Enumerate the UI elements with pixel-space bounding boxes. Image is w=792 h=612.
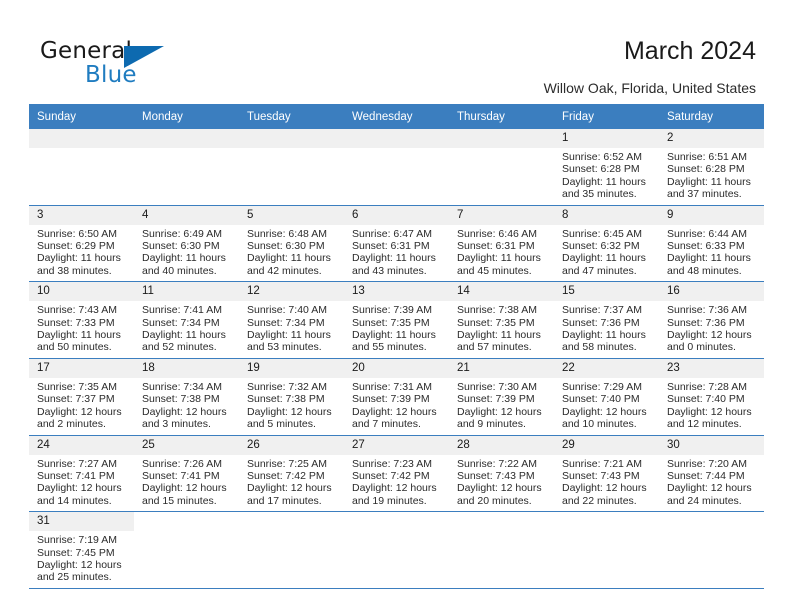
calendar-day-cell[interactable]: 28Sunrise: 7:22 AMSunset: 7:43 PMDayligh… (449, 435, 554, 512)
day-number: 7 (449, 206, 554, 225)
calendar-day-cell[interactable]: 6Sunrise: 6:47 AMSunset: 6:31 PMDaylight… (344, 205, 449, 282)
day-sun-info: Sunrise: 6:46 AMSunset: 6:31 PMDaylight:… (449, 225, 554, 282)
daylight-text-line2: and 47 minutes. (562, 265, 655, 277)
sunrise-text: Sunrise: 7:37 AM (562, 304, 655, 316)
sunset-text: Sunset: 6:28 PM (667, 163, 760, 175)
daylight-text-line1: Daylight: 11 hours (667, 252, 760, 264)
sunset-text: Sunset: 6:28 PM (562, 163, 655, 175)
calendar-day-cell[interactable]: 17Sunrise: 7:35 AMSunset: 7:37 PMDayligh… (29, 358, 134, 435)
weekday-header-row: Sunday Monday Tuesday Wednesday Thursday… (29, 104, 764, 129)
daylight-text-line1: Daylight: 12 hours (37, 406, 130, 418)
calendar-day-cell[interactable]: 7Sunrise: 6:46 AMSunset: 6:31 PMDaylight… (449, 205, 554, 282)
sunrise-text: Sunrise: 7:28 AM (667, 381, 760, 393)
calendar-cell-empty (29, 129, 134, 205)
daylight-text-line1: Daylight: 11 hours (247, 252, 340, 264)
daylight-text-line1: Daylight: 12 hours (667, 406, 760, 418)
calendar-week-row: 1Sunrise: 6:52 AMSunset: 6:28 PMDaylight… (29, 129, 764, 205)
day-number: 14 (449, 282, 554, 301)
day-sun-info: Sunrise: 7:23 AMSunset: 7:42 PMDaylight:… (344, 455, 449, 512)
day-sun-info: Sunrise: 6:45 AMSunset: 6:32 PMDaylight:… (554, 225, 659, 282)
day-sun-info: Sunrise: 6:47 AMSunset: 6:31 PMDaylight:… (344, 225, 449, 282)
day-number: 8 (554, 206, 659, 225)
sunrise-text: Sunrise: 7:41 AM (142, 304, 235, 316)
sunset-text: Sunset: 7:34 PM (247, 317, 340, 329)
sunrise-text: Sunrise: 6:51 AM (667, 151, 760, 163)
calendar-cell-empty (344, 129, 449, 205)
sunset-text: Sunset: 7:36 PM (667, 317, 760, 329)
calendar-day-cell[interactable]: 22Sunrise: 7:29 AMSunset: 7:40 PMDayligh… (554, 358, 659, 435)
day-number: 19 (239, 359, 344, 378)
sunrise-text: Sunrise: 7:31 AM (352, 381, 445, 393)
day-number: 17 (29, 359, 134, 378)
day-sun-info: Sunrise: 6:48 AMSunset: 6:30 PMDaylight:… (239, 225, 344, 282)
calendar-day-cell[interactable]: 3Sunrise: 6:50 AMSunset: 6:29 PMDaylight… (29, 205, 134, 282)
day-number: 27 (344, 436, 449, 455)
calendar-day-cell[interactable]: 20Sunrise: 7:31 AMSunset: 7:39 PMDayligh… (344, 358, 449, 435)
daylight-text-line2: and 12 minutes. (667, 418, 760, 430)
daylight-text-line1: Daylight: 12 hours (667, 482, 760, 494)
day-sun-info: Sunrise: 7:27 AMSunset: 7:41 PMDaylight:… (29, 455, 134, 512)
brand-logo[interactable]: General Blue (40, 38, 170, 90)
sunset-text: Sunset: 7:36 PM (562, 317, 655, 329)
sunrise-text: Sunrise: 6:46 AM (457, 228, 550, 240)
sunset-text: Sunset: 7:35 PM (352, 317, 445, 329)
sunrise-text: Sunrise: 6:49 AM (142, 228, 235, 240)
sunset-text: Sunset: 6:33 PM (667, 240, 760, 252)
daylight-text-line2: and 38 minutes. (37, 265, 130, 277)
daylight-text-line1: Daylight: 12 hours (37, 559, 130, 571)
daylight-text-line2: and 5 minutes. (247, 418, 340, 430)
sunrise-text: Sunrise: 7:26 AM (142, 458, 235, 470)
day-number (344, 129, 449, 148)
day-number: 26 (239, 436, 344, 455)
daylight-text-line2: and 9 minutes. (457, 418, 550, 430)
daylight-text-line1: Daylight: 12 hours (37, 482, 130, 494)
sunrise-text: Sunrise: 7:34 AM (142, 381, 235, 393)
day-number: 20 (344, 359, 449, 378)
sunrise-text: Sunrise: 7:27 AM (37, 458, 130, 470)
calendar-day-cell[interactable]: 16Sunrise: 7:36 AMSunset: 7:36 PMDayligh… (659, 282, 764, 359)
day-number (29, 129, 134, 148)
calendar-day-cell[interactable]: 8Sunrise: 6:45 AMSunset: 6:32 PMDaylight… (554, 205, 659, 282)
daylight-text-line2: and 58 minutes. (562, 341, 655, 353)
day-sun-info: Sunrise: 6:49 AMSunset: 6:30 PMDaylight:… (134, 225, 239, 282)
calendar-day-cell[interactable]: 12Sunrise: 7:40 AMSunset: 7:34 PMDayligh… (239, 282, 344, 359)
brand-name-general: General (40, 38, 132, 64)
day-number: 30 (659, 436, 764, 455)
daylight-text-line2: and 45 minutes. (457, 265, 550, 277)
day-number: 12 (239, 282, 344, 301)
sunrise-text: Sunrise: 7:35 AM (37, 381, 130, 393)
daylight-text-line2: and 3 minutes. (142, 418, 235, 430)
sunset-text: Sunset: 7:38 PM (247, 393, 340, 405)
day-number: 5 (239, 206, 344, 225)
page-subtitle: Willow Oak, Florida, United States (544, 80, 756, 96)
day-number: 2 (659, 129, 764, 148)
daylight-text-line1: Daylight: 11 hours (562, 329, 655, 341)
day-sun-info: Sunrise: 7:29 AMSunset: 7:40 PMDaylight:… (554, 378, 659, 435)
day-sun-info: Sunrise: 6:50 AMSunset: 6:29 PMDaylight:… (29, 225, 134, 282)
calendar-day-cell[interactable]: 31Sunrise: 7:19 AMSunset: 7:45 PMDayligh… (29, 512, 134, 589)
day-number (134, 129, 239, 148)
day-sun-info: Sunrise: 7:41 AMSunset: 7:34 PMDaylight:… (134, 301, 239, 358)
sunrise-text: Sunrise: 7:25 AM (247, 458, 340, 470)
daylight-text-line1: Daylight: 12 hours (457, 406, 550, 418)
daylight-text-line1: Daylight: 12 hours (562, 406, 655, 418)
sunset-text: Sunset: 7:42 PM (352, 470, 445, 482)
daylight-text-line1: Daylight: 11 hours (37, 252, 130, 264)
calendar-page: General Blue March 2024 Willow Oak, Flor… (0, 0, 792, 612)
sunset-text: Sunset: 7:42 PM (247, 470, 340, 482)
calendar-day-cell[interactable]: 5Sunrise: 6:48 AMSunset: 6:30 PMDaylight… (239, 205, 344, 282)
calendar-day-cell[interactable]: 29Sunrise: 7:21 AMSunset: 7:43 PMDayligh… (554, 435, 659, 512)
sunset-text: Sunset: 7:41 PM (142, 470, 235, 482)
daylight-text-line1: Daylight: 12 hours (142, 482, 235, 494)
weekday-header-sunday: Sunday (29, 104, 134, 129)
sunrise-text: Sunrise: 7:21 AM (562, 458, 655, 470)
sunrise-text: Sunrise: 7:20 AM (667, 458, 760, 470)
day-number: 25 (134, 436, 239, 455)
sunset-text: Sunset: 7:33 PM (37, 317, 130, 329)
sunrise-text: Sunrise: 6:52 AM (562, 151, 655, 163)
brand-name-blue: Blue (85, 62, 137, 88)
calendar-day-cell[interactable]: 2Sunrise: 6:51 AMSunset: 6:28 PMDaylight… (659, 129, 764, 205)
daylight-text-line1: Daylight: 11 hours (562, 176, 655, 188)
calendar-cell-empty (239, 512, 344, 589)
sunrise-text: Sunrise: 7:32 AM (247, 381, 340, 393)
daylight-text-line1: Daylight: 11 hours (142, 252, 235, 264)
daylight-text-line2: and 10 minutes. (562, 418, 655, 430)
day-number (449, 129, 554, 148)
calendar-day-cell[interactable]: 21Sunrise: 7:30 AMSunset: 7:39 PMDayligh… (449, 358, 554, 435)
calendar-day-cell[interactable]: 24Sunrise: 7:27 AMSunset: 7:41 PMDayligh… (29, 435, 134, 512)
daylight-text-line2: and 19 minutes. (352, 495, 445, 507)
day-number: 28 (449, 436, 554, 455)
daylight-text-line1: Daylight: 12 hours (562, 482, 655, 494)
day-sun-info: Sunrise: 6:52 AMSunset: 6:28 PMDaylight:… (554, 148, 659, 205)
sunrise-text: Sunrise: 7:40 AM (247, 304, 340, 316)
daylight-text-line2: and 2 minutes. (37, 418, 130, 430)
sunset-text: Sunset: 7:44 PM (667, 470, 760, 482)
day-number: 4 (134, 206, 239, 225)
calendar-cell-empty (239, 129, 344, 205)
sunrise-text: Sunrise: 6:50 AM (37, 228, 130, 240)
sunset-text: Sunset: 7:38 PM (142, 393, 235, 405)
day-number: 31 (29, 512, 134, 531)
calendar-day-cell[interactable]: 11Sunrise: 7:41 AMSunset: 7:34 PMDayligh… (134, 282, 239, 359)
daylight-text-line2: and 53 minutes. (247, 341, 340, 353)
daylight-text-line2: and 22 minutes. (562, 495, 655, 507)
calendar-cell-empty (554, 512, 659, 589)
page-title: March 2024 (624, 37, 756, 66)
weekday-header-wednesday: Wednesday (344, 104, 449, 129)
daylight-text-line2: and 25 minutes. (37, 571, 130, 583)
calendar-day-cell[interactable]: 10Sunrise: 7:43 AMSunset: 7:33 PMDayligh… (29, 282, 134, 359)
sunset-text: Sunset: 7:35 PM (457, 317, 550, 329)
sunset-text: Sunset: 7:43 PM (562, 470, 655, 482)
calendar-week-row: 24Sunrise: 7:27 AMSunset: 7:41 PMDayligh… (29, 435, 764, 512)
calendar-day-cell[interactable]: 26Sunrise: 7:25 AMSunset: 7:42 PMDayligh… (239, 435, 344, 512)
sunset-text: Sunset: 7:40 PM (562, 393, 655, 405)
daylight-text-line2: and 57 minutes. (457, 341, 550, 353)
daylight-text-line1: Daylight: 12 hours (457, 482, 550, 494)
daylight-text-line1: Daylight: 12 hours (142, 406, 235, 418)
calendar-day-cell[interactable]: 25Sunrise: 7:26 AMSunset: 7:41 PMDayligh… (134, 435, 239, 512)
calendar-week-row: 10Sunrise: 7:43 AMSunset: 7:33 PMDayligh… (29, 282, 764, 359)
sunset-text: Sunset: 7:39 PM (352, 393, 445, 405)
calendar-day-cell[interactable]: 19Sunrise: 7:32 AMSunset: 7:38 PMDayligh… (239, 358, 344, 435)
daylight-text-line1: Daylight: 11 hours (562, 252, 655, 264)
calendar-day-cell[interactable]: 15Sunrise: 7:37 AMSunset: 7:36 PMDayligh… (554, 282, 659, 359)
day-sun-info: Sunrise: 7:25 AMSunset: 7:42 PMDaylight:… (239, 455, 344, 512)
day-number: 1 (554, 129, 659, 148)
daylight-text-line2: and 48 minutes. (667, 265, 760, 277)
sunset-text: Sunset: 6:31 PM (457, 240, 550, 252)
daylight-text-line1: Daylight: 11 hours (352, 329, 445, 341)
daylight-text-line2: and 17 minutes. (247, 495, 340, 507)
day-number: 22 (554, 359, 659, 378)
sunrise-text: Sunrise: 7:39 AM (352, 304, 445, 316)
day-sun-info: Sunrise: 7:37 AMSunset: 7:36 PMDaylight:… (554, 301, 659, 358)
day-number: 21 (449, 359, 554, 378)
calendar-cell-empty (134, 129, 239, 205)
day-number: 16 (659, 282, 764, 301)
daylight-text-line1: Daylight: 11 hours (667, 176, 760, 188)
day-sun-info: Sunrise: 7:39 AMSunset: 7:35 PMDaylight:… (344, 301, 449, 358)
weekday-header-friday: Friday (554, 104, 659, 129)
day-sun-info: Sunrise: 7:21 AMSunset: 7:43 PMDaylight:… (554, 455, 659, 512)
daylight-text-line2: and 14 minutes. (37, 495, 130, 507)
daylight-text-line2: and 0 minutes. (667, 341, 760, 353)
day-number: 29 (554, 436, 659, 455)
daylight-text-line1: Daylight: 12 hours (352, 482, 445, 494)
calendar-day-cell[interactable]: 13Sunrise: 7:39 AMSunset: 7:35 PMDayligh… (344, 282, 449, 359)
sunset-text: Sunset: 7:45 PM (37, 547, 130, 559)
day-sun-info: Sunrise: 7:28 AMSunset: 7:40 PMDaylight:… (659, 378, 764, 435)
sunrise-text: Sunrise: 7:43 AM (37, 304, 130, 316)
sunset-text: Sunset: 6:29 PM (37, 240, 130, 252)
daylight-text-line2: and 52 minutes. (142, 341, 235, 353)
day-number: 13 (344, 282, 449, 301)
sunset-text: Sunset: 7:39 PM (457, 393, 550, 405)
calendar-day-cell[interactable]: 30Sunrise: 7:20 AMSunset: 7:44 PMDayligh… (659, 435, 764, 512)
sunrise-text: Sunrise: 6:48 AM (247, 228, 340, 240)
day-number: 15 (554, 282, 659, 301)
sunrise-text: Sunrise: 6:45 AM (562, 228, 655, 240)
calendar-body: 1Sunrise: 6:52 AMSunset: 6:28 PMDaylight… (29, 129, 764, 588)
daylight-text-line2: and 7 minutes. (352, 418, 445, 430)
day-number: 24 (29, 436, 134, 455)
day-sun-info: Sunrise: 7:36 AMSunset: 7:36 PMDaylight:… (659, 301, 764, 358)
sunrise-text: Sunrise: 7:23 AM (352, 458, 445, 470)
day-sun-info: Sunrise: 7:40 AMSunset: 7:34 PMDaylight:… (239, 301, 344, 358)
daylight-text-line2: and 40 minutes. (142, 265, 235, 277)
sunrise-text: Sunrise: 6:44 AM (667, 228, 760, 240)
calendar-day-cell[interactable]: 1Sunrise: 6:52 AMSunset: 6:28 PMDaylight… (554, 129, 659, 205)
calendar-day-cell[interactable]: 9Sunrise: 6:44 AMSunset: 6:33 PMDaylight… (659, 205, 764, 282)
page-header: General Blue March 2024 Willow Oak, Flor… (0, 0, 792, 104)
day-number (239, 129, 344, 148)
sunset-text: Sunset: 7:40 PM (667, 393, 760, 405)
daylight-text-line1: Daylight: 11 hours (37, 329, 130, 341)
calendar-day-cell[interactable]: 18Sunrise: 7:34 AMSunset: 7:38 PMDayligh… (134, 358, 239, 435)
sunrise-text: Sunrise: 7:29 AM (562, 381, 655, 393)
sunrise-text: Sunrise: 7:22 AM (457, 458, 550, 470)
day-sun-info: Sunrise: 7:35 AMSunset: 7:37 PMDaylight:… (29, 378, 134, 435)
calendar-cell-empty (449, 129, 554, 205)
day-sun-info: Sunrise: 7:32 AMSunset: 7:38 PMDaylight:… (239, 378, 344, 435)
day-sun-info: Sunrise: 7:30 AMSunset: 7:39 PMDaylight:… (449, 378, 554, 435)
daylight-text-line2: and 20 minutes. (457, 495, 550, 507)
daylight-text-line1: Daylight: 12 hours (247, 406, 340, 418)
calendar-week-row: 3Sunrise: 6:50 AMSunset: 6:29 PMDaylight… (29, 205, 764, 282)
sunrise-text: Sunrise: 7:36 AM (667, 304, 760, 316)
sunrise-sunset-calendar: Sunday Monday Tuesday Wednesday Thursday… (29, 104, 764, 589)
daylight-text-line2: and 43 minutes. (352, 265, 445, 277)
daylight-text-line2: and 50 minutes. (37, 341, 130, 353)
sunset-text: Sunset: 6:30 PM (142, 240, 235, 252)
daylight-text-line1: Daylight: 11 hours (457, 252, 550, 264)
day-sun-info: Sunrise: 7:26 AMSunset: 7:41 PMDaylight:… (134, 455, 239, 512)
daylight-text-line1: Daylight: 12 hours (352, 406, 445, 418)
calendar-cell-empty (344, 512, 449, 589)
sunrise-text: Sunrise: 7:19 AM (37, 534, 130, 546)
weekday-header-thursday: Thursday (449, 104, 554, 129)
daylight-text-line2: and 15 minutes. (142, 495, 235, 507)
daylight-text-line1: Daylight: 11 hours (247, 329, 340, 341)
daylight-text-line2: and 24 minutes. (667, 495, 760, 507)
day-sun-info: Sunrise: 7:20 AMSunset: 7:44 PMDaylight:… (659, 455, 764, 512)
daylight-text-line1: Daylight: 11 hours (352, 252, 445, 264)
day-sun-info: Sunrise: 7:31 AMSunset: 7:39 PMDaylight:… (344, 378, 449, 435)
sunrise-text: Sunrise: 7:38 AM (457, 304, 550, 316)
calendar-day-cell[interactable]: 23Sunrise: 7:28 AMSunset: 7:40 PMDayligh… (659, 358, 764, 435)
sunrise-text: Sunrise: 7:30 AM (457, 381, 550, 393)
day-number: 23 (659, 359, 764, 378)
day-sun-info: Sunrise: 6:44 AMSunset: 6:33 PMDaylight:… (659, 225, 764, 282)
day-sun-info: Sunrise: 7:43 AMSunset: 7:33 PMDaylight:… (29, 301, 134, 358)
daylight-text-line2: and 35 minutes. (562, 188, 655, 200)
weekday-header-tuesday: Tuesday (239, 104, 344, 129)
sunset-text: Sunset: 6:32 PM (562, 240, 655, 252)
sunset-text: Sunset: 7:43 PM (457, 470, 550, 482)
sunset-text: Sunset: 7:41 PM (37, 470, 130, 482)
sunset-text: Sunset: 6:31 PM (352, 240, 445, 252)
calendar-day-cell[interactable]: 27Sunrise: 7:23 AMSunset: 7:42 PMDayligh… (344, 435, 449, 512)
calendar-week-row: 17Sunrise: 7:35 AMSunset: 7:37 PMDayligh… (29, 358, 764, 435)
calendar-week-row: 31Sunrise: 7:19 AMSunset: 7:45 PMDayligh… (29, 512, 764, 589)
day-number: 6 (344, 206, 449, 225)
daylight-text-line2: and 42 minutes. (247, 265, 340, 277)
daylight-text-line2: and 55 minutes. (352, 341, 445, 353)
day-sun-info: Sunrise: 7:38 AMSunset: 7:35 PMDaylight:… (449, 301, 554, 358)
sunrise-text: Sunrise: 6:47 AM (352, 228, 445, 240)
day-sun-info: Sunrise: 7:22 AMSunset: 7:43 PMDaylight:… (449, 455, 554, 512)
weekday-header-monday: Monday (134, 104, 239, 129)
daylight-text-line1: Daylight: 12 hours (247, 482, 340, 494)
daylight-text-line2: and 37 minutes. (667, 188, 760, 200)
sunset-text: Sunset: 7:34 PM (142, 317, 235, 329)
calendar-cell-empty (449, 512, 554, 589)
day-number: 10 (29, 282, 134, 301)
day-number: 9 (659, 206, 764, 225)
calendar-cell-empty (134, 512, 239, 589)
day-number: 3 (29, 206, 134, 225)
calendar-day-cell[interactable]: 14Sunrise: 7:38 AMSunset: 7:35 PMDayligh… (449, 282, 554, 359)
calendar-cell-empty (659, 512, 764, 589)
day-sun-info: Sunrise: 7:34 AMSunset: 7:38 PMDaylight:… (134, 378, 239, 435)
day-number: 11 (134, 282, 239, 301)
sunset-text: Sunset: 6:30 PM (247, 240, 340, 252)
daylight-text-line1: Daylight: 12 hours (667, 329, 760, 341)
daylight-text-line1: Daylight: 11 hours (457, 329, 550, 341)
day-number: 18 (134, 359, 239, 378)
day-sun-info: Sunrise: 6:51 AMSunset: 6:28 PMDaylight:… (659, 148, 764, 205)
weekday-header-saturday: Saturday (659, 104, 764, 129)
daylight-text-line1: Daylight: 11 hours (142, 329, 235, 341)
sunset-text: Sunset: 7:37 PM (37, 393, 130, 405)
day-sun-info: Sunrise: 7:19 AMSunset: 7:45 PMDaylight:… (29, 531, 134, 588)
calendar-day-cell[interactable]: 4Sunrise: 6:49 AMSunset: 6:30 PMDaylight… (134, 205, 239, 282)
